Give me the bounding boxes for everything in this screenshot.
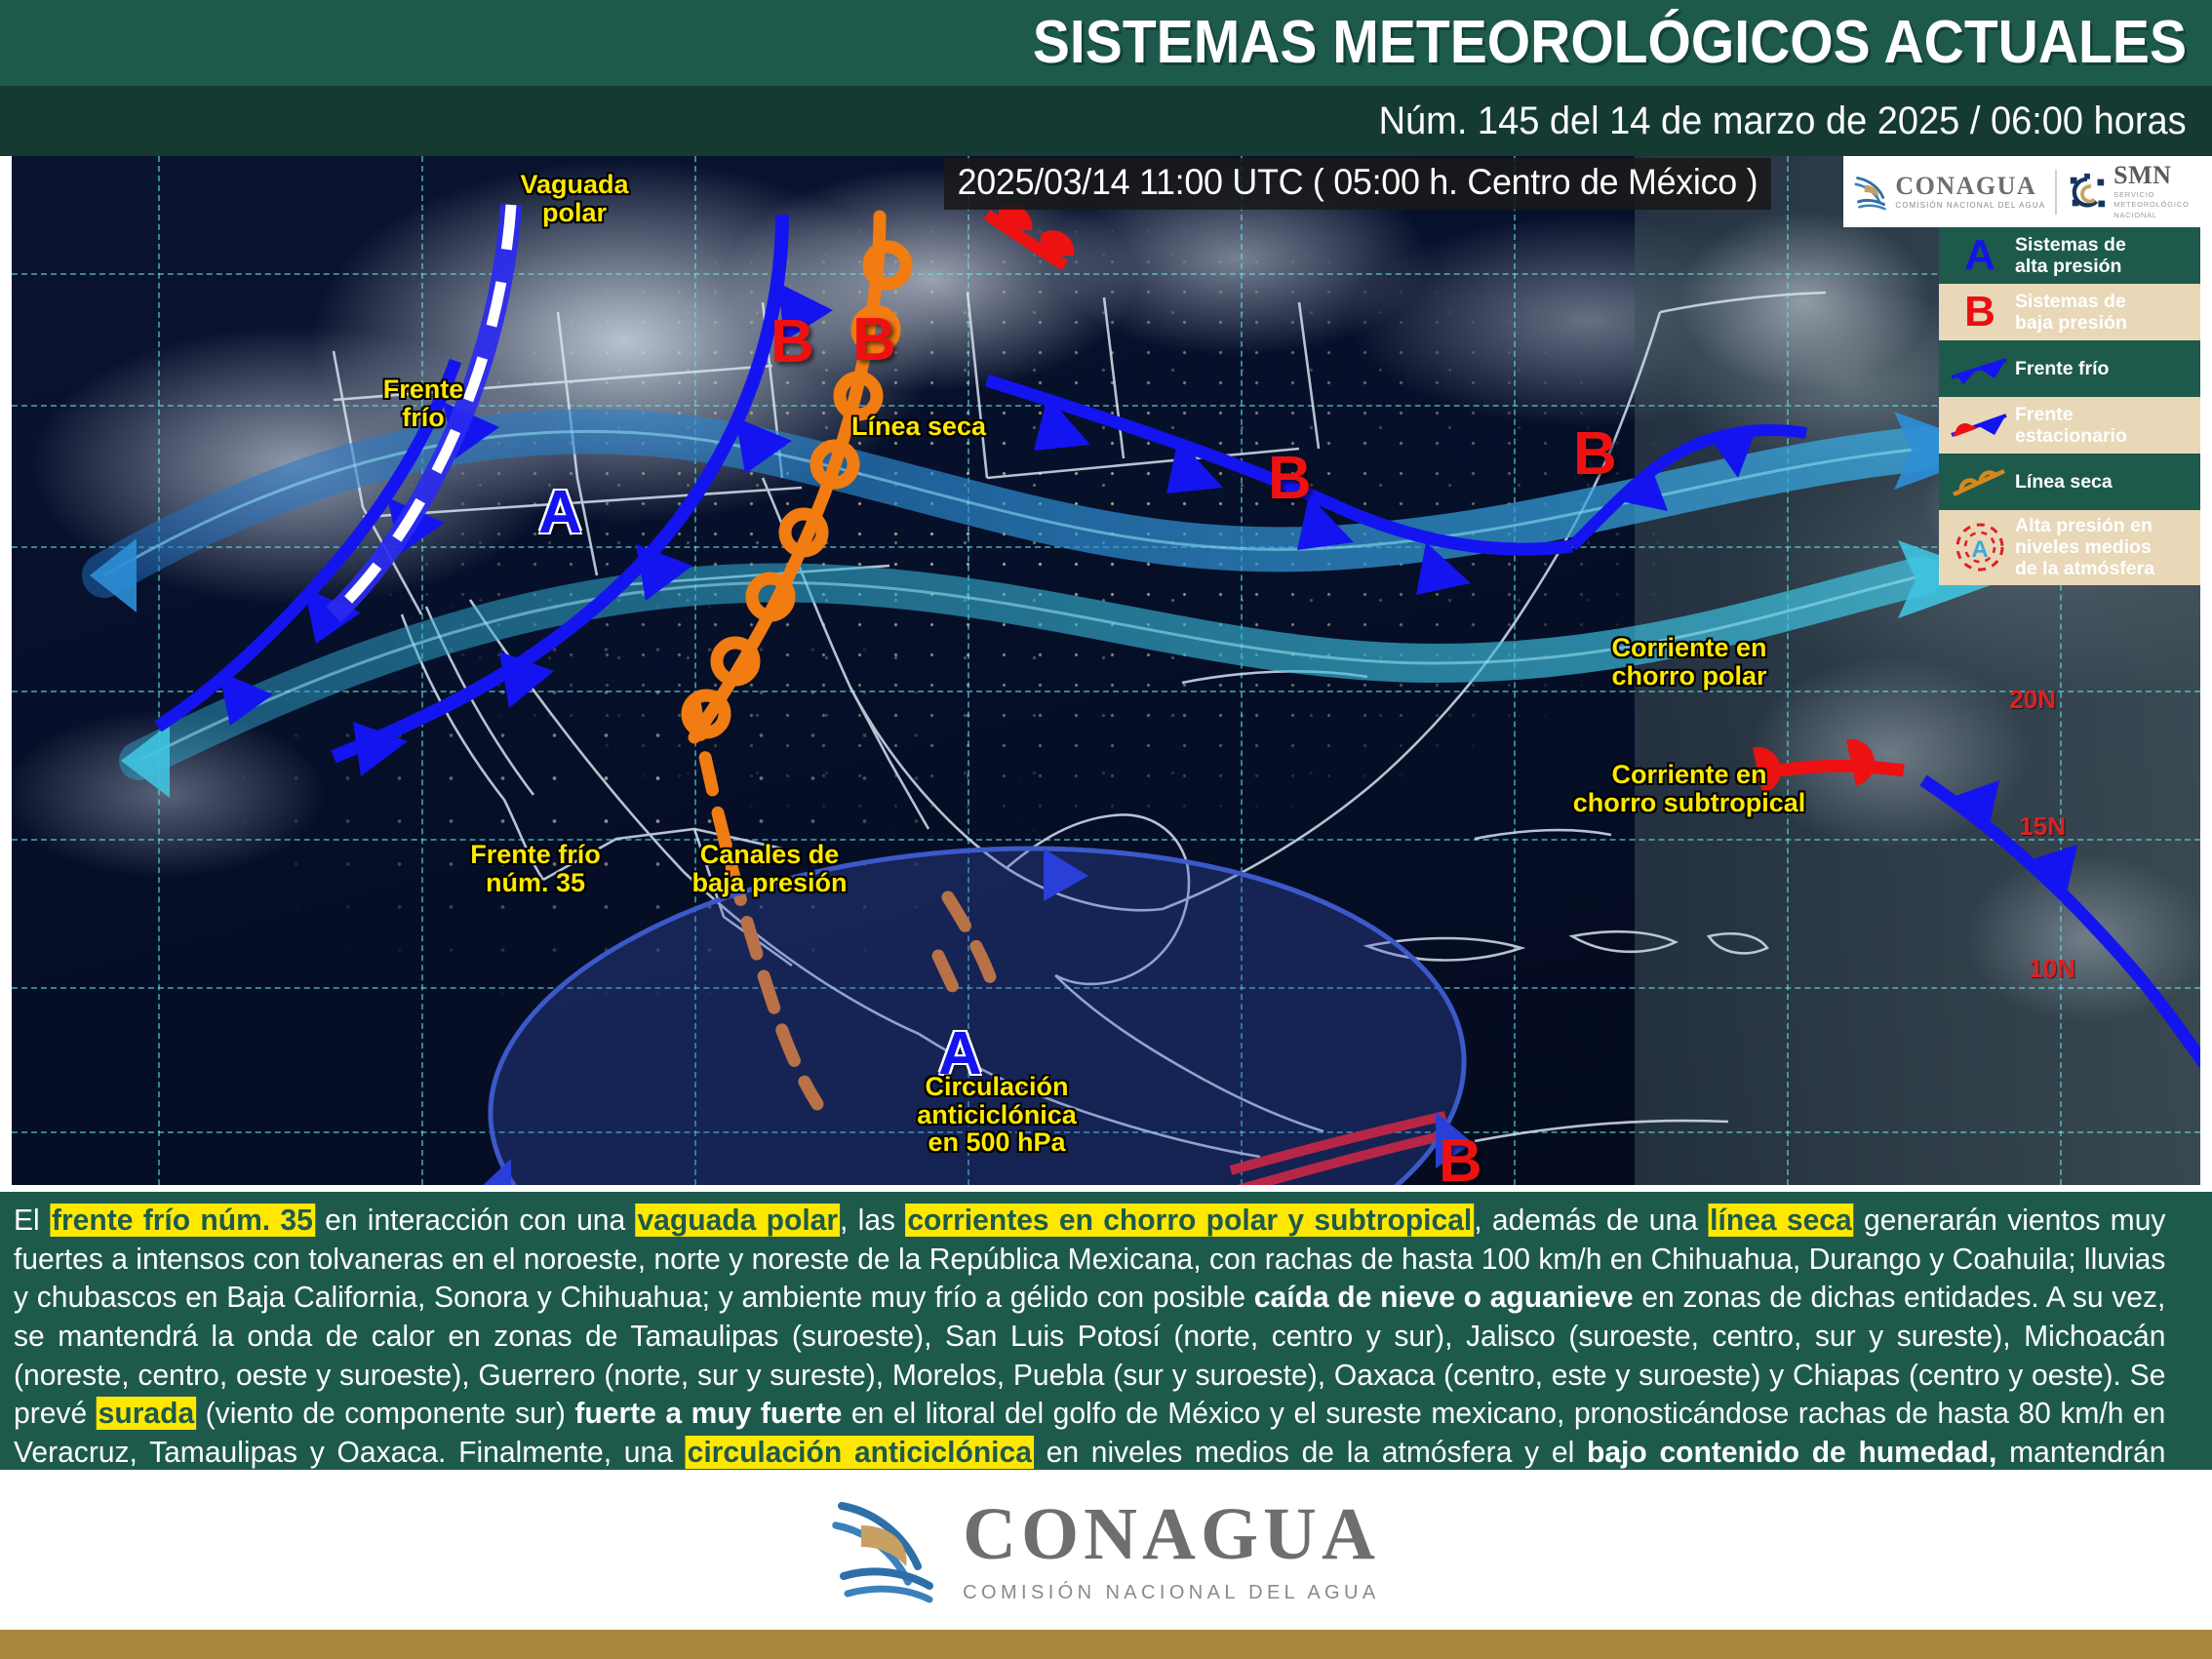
mid-level-high-icon: A — [1945, 521, 2015, 573]
letter-A-icon: A — [1945, 234, 2015, 277]
legend-item-linea-seca: Línea seca — [1939, 454, 2200, 510]
agency-logos-bar: CONAGUA COMISIÓN NACIONAL DEL AGUA SMN — [1843, 156, 2200, 227]
logo-divider — [2055, 170, 2057, 215]
cold-front-icon — [1945, 352, 2015, 385]
lat-label-10n: 10N — [2029, 954, 2075, 984]
low-pressure-mark-1: B — [770, 312, 814, 373]
smn-logo-name: SMN — [2113, 163, 2190, 188]
bulletin-text-panel: El frente frío núm. 35 en interacción co… — [0, 1192, 2212, 1470]
svg-text:A: A — [1971, 536, 1988, 563]
bulletin-paragraph: El frente frío núm. 35 en interacción co… — [14, 1202, 2165, 1511]
legend-item-frente-frio: Frente frío — [1939, 340, 2200, 397]
conagua-logo-name: CONAGUA — [1895, 174, 2045, 199]
dry-line-icon — [1945, 465, 2015, 498]
legend-label-frente-estacionario: Frente estacionario — [2015, 404, 2127, 447]
page-title: SISTEMAS METEOROLÓGICOS ACTUALES — [1033, 2, 2187, 84]
legend-item-alta-niveles-medios: A Alta presión en niveles medios de la a… — [1939, 510, 2200, 585]
satellite-map[interactable]: 35N 30N 25N 20N 15N 10N A A B B B B B Va… — [12, 156, 2200, 1185]
letter-B-icon: B — [1945, 291, 2015, 334]
conagua-eagle-water-icon — [1854, 173, 1889, 212]
legend-label-alta-niveles-medios: Alta presión en niveles medios de la atm… — [2015, 515, 2154, 580]
legend-item-alta-presion: A Sistemas de alta presión — [1939, 227, 2200, 284]
legend-label-linea-seca: Línea seca — [2015, 471, 2113, 493]
footer-logo-bar: CONAGUA COMISIÓN NACIONAL DEL AGUA — [0, 1470, 2212, 1630]
conagua-logo-tagline: COMISIÓN NACIONAL DEL AGUA — [1895, 202, 2045, 210]
smn-spiral-icon — [2067, 172, 2108, 213]
bulletin-number-date: Núm. 145 del 14 de marzo de 2025 / 06:00… — [1379, 86, 2187, 156]
low-pressure-mark-5: B — [1439, 1131, 1482, 1185]
low-pressure-mark-3: B — [1268, 449, 1312, 509]
legend-label-frente-frio: Frente frío — [2015, 358, 2109, 379]
stationary-front-icon — [1945, 408, 2015, 443]
legend-item-baja-presion: B Sistemas de baja presión — [1939, 284, 2200, 340]
footer-accent-strip — [0, 1630, 2212, 1659]
smn-logo: SMN SERVICIO METEOROLÓGICO NACIONAL — [2067, 163, 2190, 219]
footer-logo-name: CONAGUA — [963, 1497, 1380, 1571]
low-pressure-mark-2: B — [852, 310, 896, 371]
low-pressure-mark-4: B — [1573, 424, 1617, 485]
weather-bulletin-page: SISTEMAS METEOROLÓGICOS ACTUALES Núm. 14… — [0, 0, 2212, 1659]
smn-logo-tagline: SERVICIO METEOROLÓGICO NACIONAL — [2113, 190, 2190, 219]
city-lights-overlay-secondary — [12, 156, 2200, 1185]
high-pressure-mark-500hpa: A — [938, 1024, 982, 1085]
legend-item-frente-estacionario: Frente estacionario — [1939, 397, 2200, 454]
conagua-logo: CONAGUA COMISIÓN NACIONAL DEL AGUA — [1854, 173, 2045, 212]
legend-label-alta-presion: Sistemas de alta presión — [2015, 234, 2126, 277]
lat-label-15n: 15N — [2019, 811, 2066, 842]
conagua-footer-eagle-water-icon — [832, 1492, 937, 1607]
legend-label-baja-presion: Sistemas de baja presión — [2015, 291, 2127, 334]
footer-logo-tagline: COMISIÓN NACIONAL DEL AGUA — [963, 1583, 1380, 1602]
map-legend: A Sistemas de alta presión B Sistemas de… — [1939, 227, 2200, 585]
lat-label-20n: 20N — [2009, 685, 2056, 715]
map-timestamp: 2025/03/14 11:00 UTC ( 05:00 h. Centro d… — [944, 158, 1771, 210]
high-pressure-mark-north: A — [538, 483, 582, 543]
